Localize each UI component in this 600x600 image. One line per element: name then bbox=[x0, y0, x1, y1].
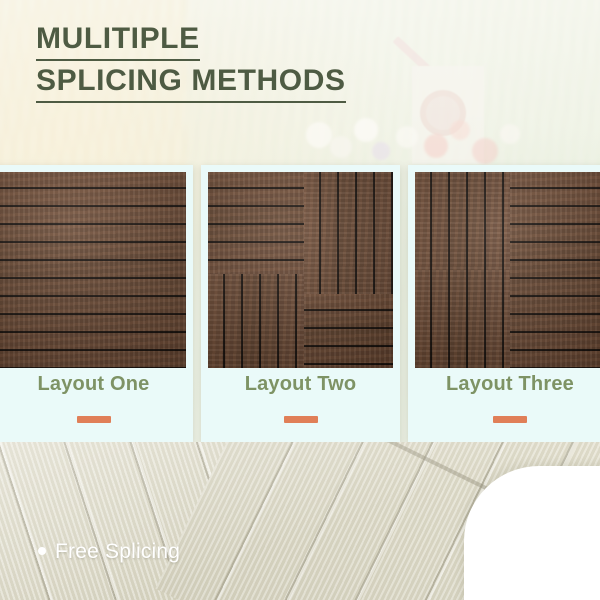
layout-three-wood-image bbox=[415, 172, 600, 368]
wood-shading bbox=[208, 172, 393, 368]
layout-card-three[interactable]: Layout Three bbox=[408, 165, 600, 443]
layout-three-accent-bar bbox=[493, 416, 527, 423]
product-marketing-image: MULITIPLE SPLICING METHODS Layout One La… bbox=[0, 0, 600, 600]
free-splicing-label: Free Splicing bbox=[55, 540, 180, 563]
layout-two-accent-bar bbox=[284, 416, 318, 423]
deck-floor-photo bbox=[0, 442, 600, 600]
wood-shading bbox=[415, 172, 600, 368]
layout-three-label: Layout Three bbox=[408, 373, 600, 396]
layout-cards-row: Layout One Layout Two Layout Thre bbox=[0, 165, 600, 443]
title-line-2: SPLICING METHODS bbox=[36, 66, 346, 103]
free-splicing-bullet: Free Splicing bbox=[38, 540, 180, 564]
layout-one-label: Layout One bbox=[0, 373, 193, 396]
bullet-dot-icon bbox=[38, 547, 46, 555]
title-line-1: MULITIPLE bbox=[36, 24, 200, 61]
layout-card-one[interactable]: Layout One bbox=[0, 165, 193, 443]
layout-card-two[interactable]: Layout Two bbox=[201, 165, 400, 443]
wood-shading bbox=[0, 172, 186, 368]
layout-one-wood-image bbox=[0, 172, 186, 368]
layout-one-accent-bar bbox=[77, 416, 111, 423]
layout-two-label: Layout Two bbox=[201, 373, 400, 396]
page-title: MULITIPLE SPLICING METHODS bbox=[36, 24, 556, 108]
layout-two-wood-image bbox=[208, 172, 393, 368]
